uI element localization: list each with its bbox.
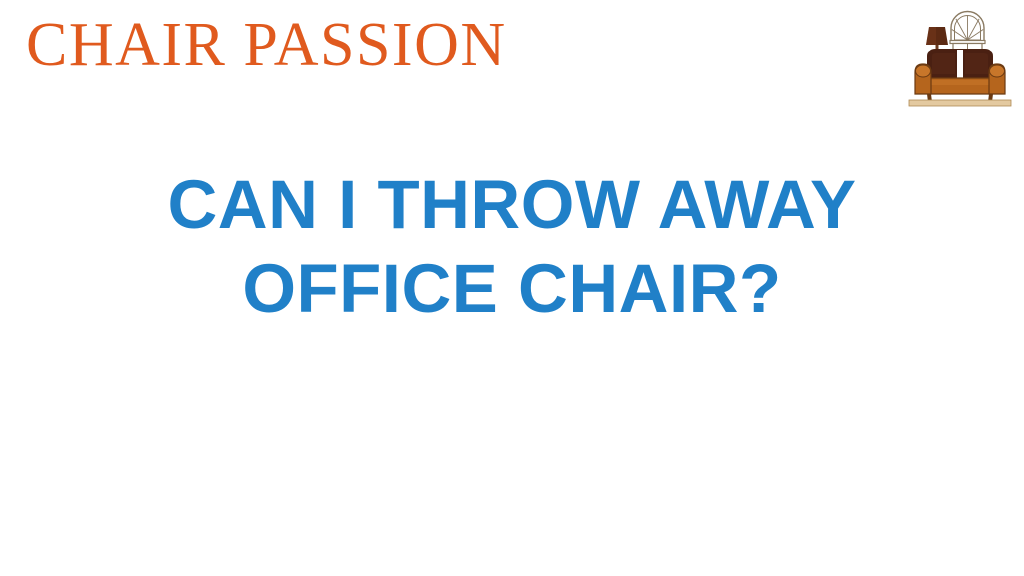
sofa-lamp-window-emblem-icon [905, 4, 1015, 112]
floor-line [909, 100, 1011, 106]
brand-logo-text[interactable]: CHAIR PASSION [26, 14, 507, 76]
page-root: CHAIR PASSION [0, 0, 1024, 576]
sofa-icon [915, 49, 1005, 102]
brand-header: CHAIR PASSION [0, 0, 1024, 120]
page-title: CAN I THROW AWAY OFFICE CHAIR? [0, 163, 1024, 331]
page-title-line-1: CAN I THROW AWAY [0, 163, 1024, 247]
page-title-line-2: OFFICE CHAIR? [0, 247, 1024, 331]
